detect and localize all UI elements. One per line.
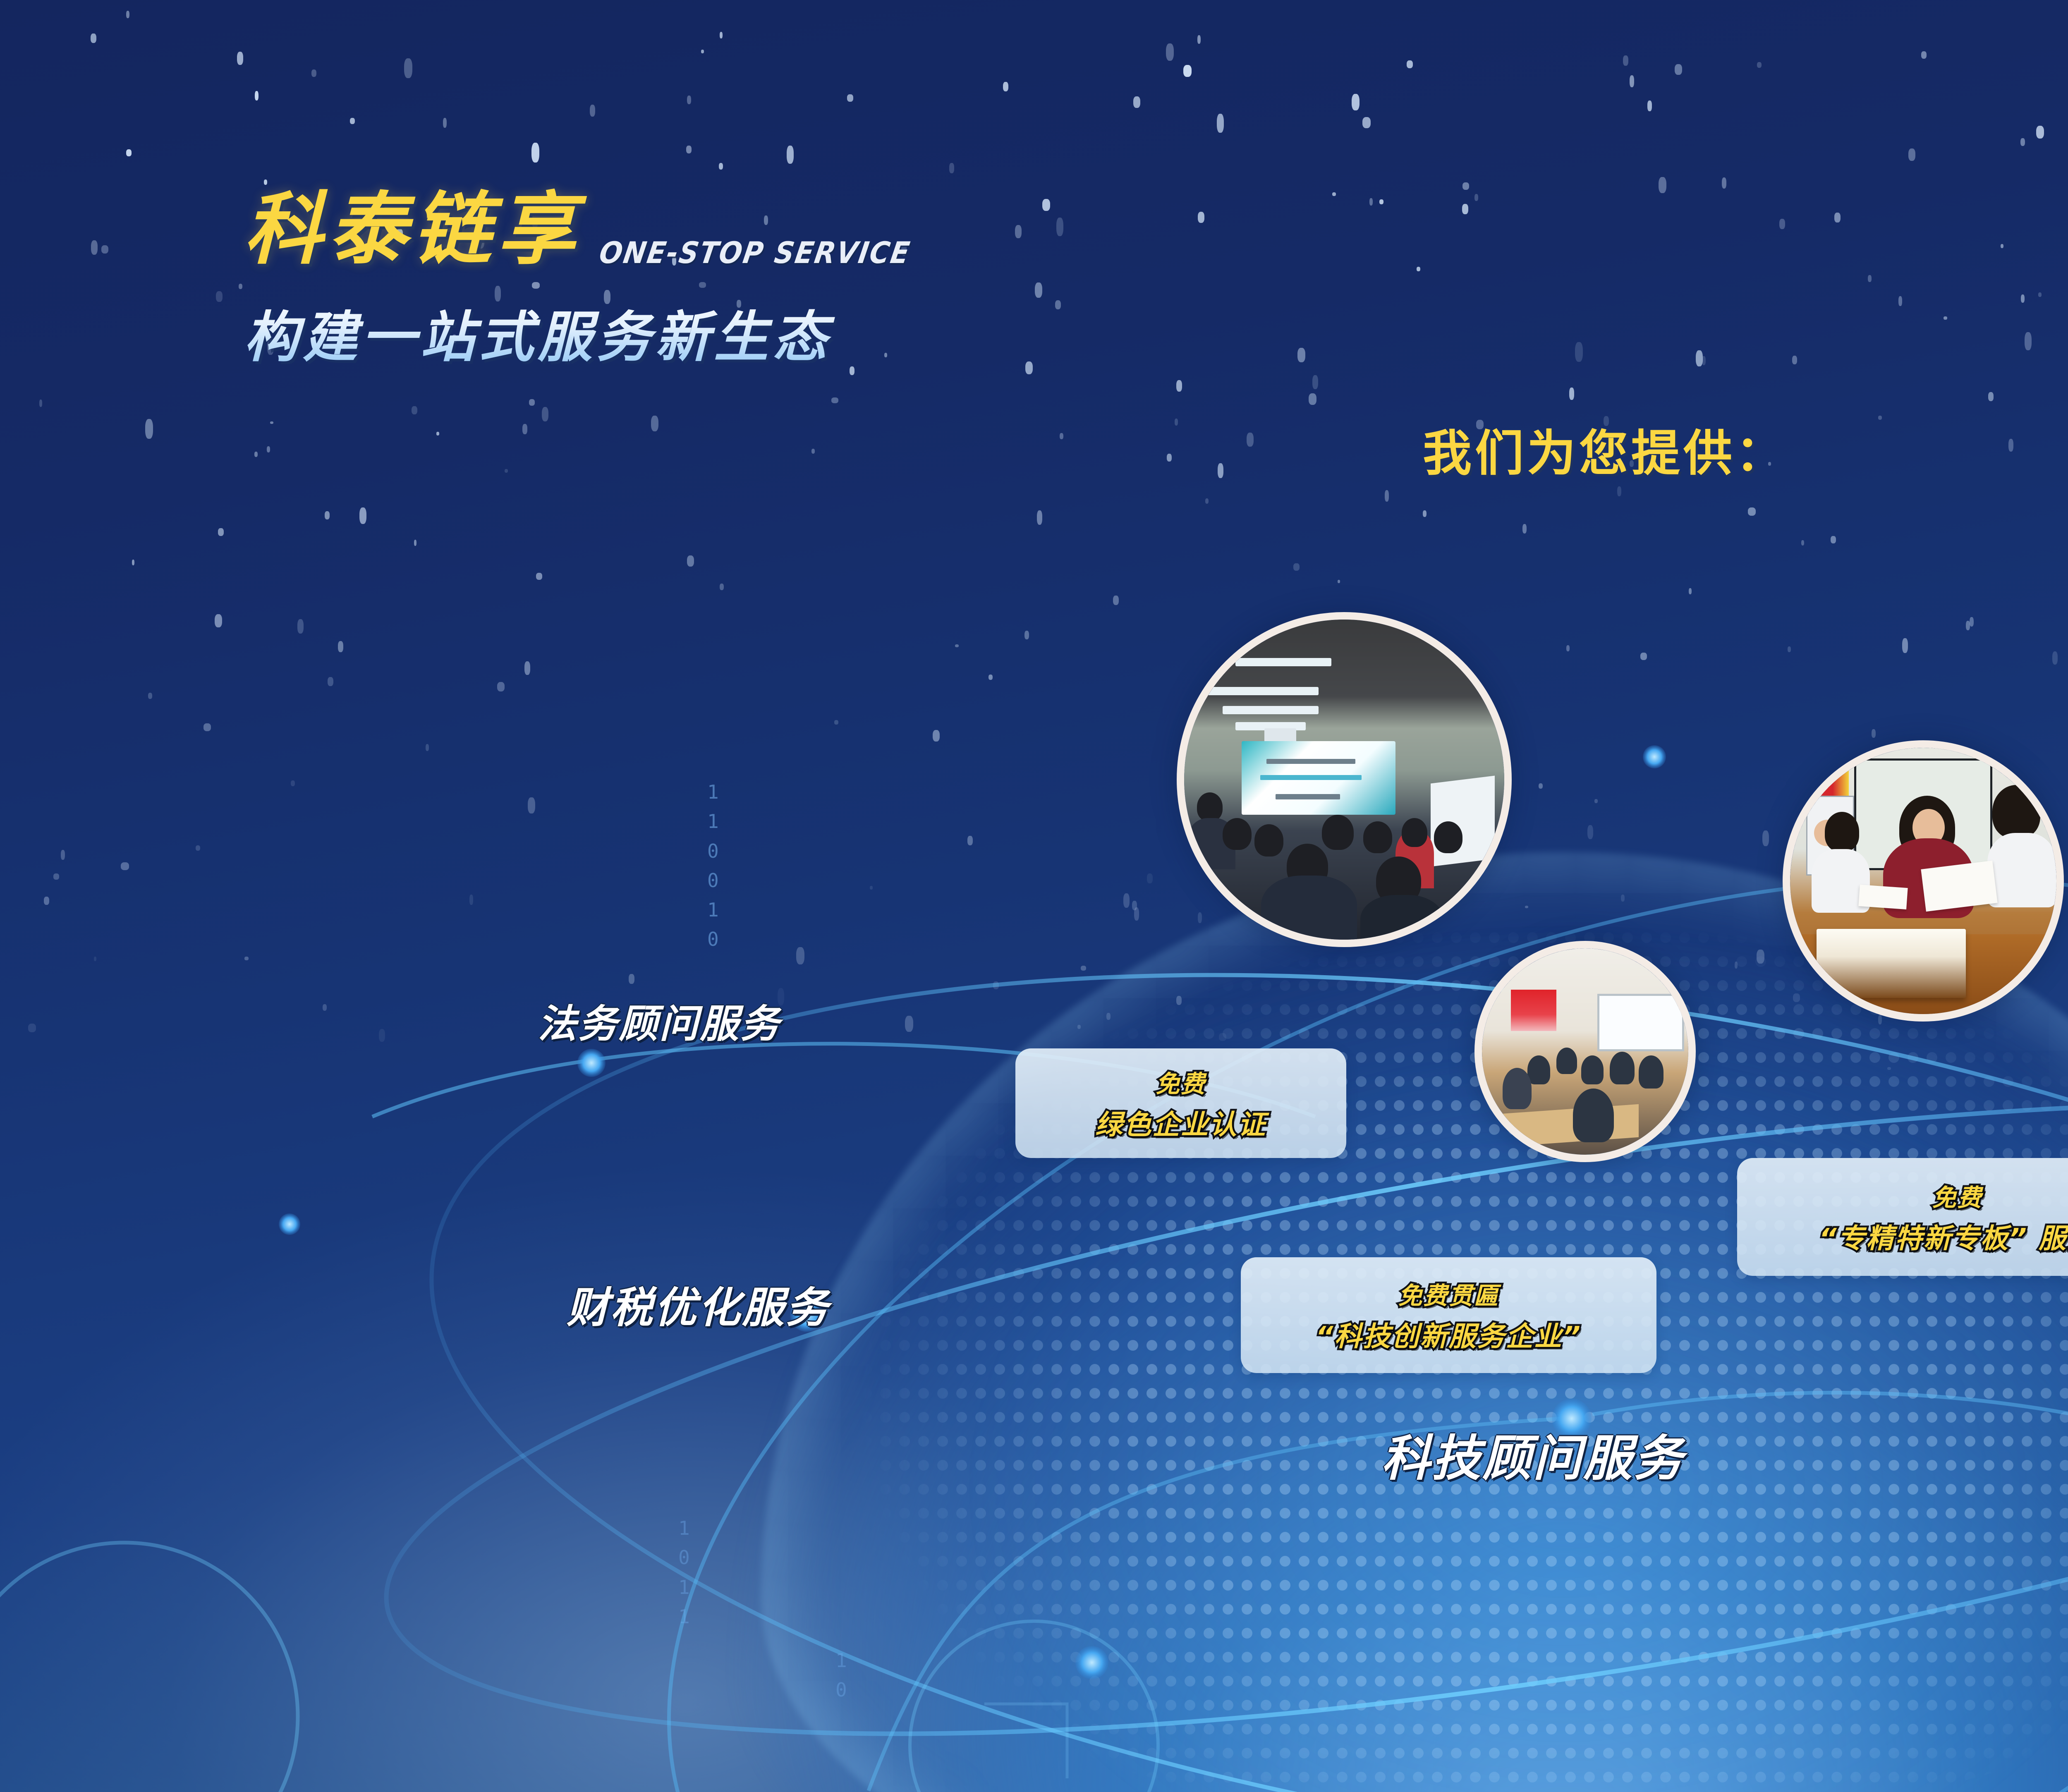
brand-english-tagline: ONE-STOP SERVICE [597,235,913,270]
service-label-tech-advisory: 科技顾问服务 [1381,1419,1684,1489]
photo-training-classroom [1474,941,1696,1162]
badge-green-enterprise-line2: 绿色企业认证 [1095,1103,1266,1142]
badge-tech-innovation-plaque[interactable]: 免费贯匾 “科技创新服务企业” [1241,1257,1656,1373]
badge-specialized-new-board[interactable]: 免费 “专精特新专板” 服务 [1737,1158,2068,1276]
badge-green-enterprise-line1: 免费 [1156,1065,1206,1099]
brand-row: 科泰链享 ONE-STOP SERVICE [244,165,910,279]
photo-seminar-audience [1177,612,1512,947]
badge-green-enterprise[interactable]: 免费 绿色企业认证 [1015,1048,1346,1158]
offer-heading: 我们为您提供： [1423,414,1788,484]
badge-specialized-line2: “专精特新专板” 服务 [1819,1216,2068,1256]
badge-specialized-line1: 免费 [1932,1178,1982,1213]
badge-tech-innovation-line1: 免费贯匾 [1398,1276,1499,1311]
banner-canvas: 110010 1011 11001 0101 10101 10 科泰链享 ONE… [0,0,2068,1792]
binary-column-left-lower: 1011 [678,1514,691,1632]
binary-column-left: 110010 [707,778,720,955]
service-label-fiscal-tax: 财税优化服务 [567,1274,830,1335]
brand-title: 科泰链享 [244,165,582,279]
service-label-legal-advisory: 法务顾问服务 [538,993,781,1049]
headline-block: 科泰链享 ONE-STOP SERVICE 构建一站式服务新生态 [244,165,910,372]
binary-column-bottom-left: 10 [835,1646,848,1705]
brand-subtitle: 构建一站式服务新生态 [244,293,910,372]
photo-office-consultation [1783,740,2064,1022]
badge-tech-innovation-line2: “科技创新服务企业” [1316,1314,1582,1354]
